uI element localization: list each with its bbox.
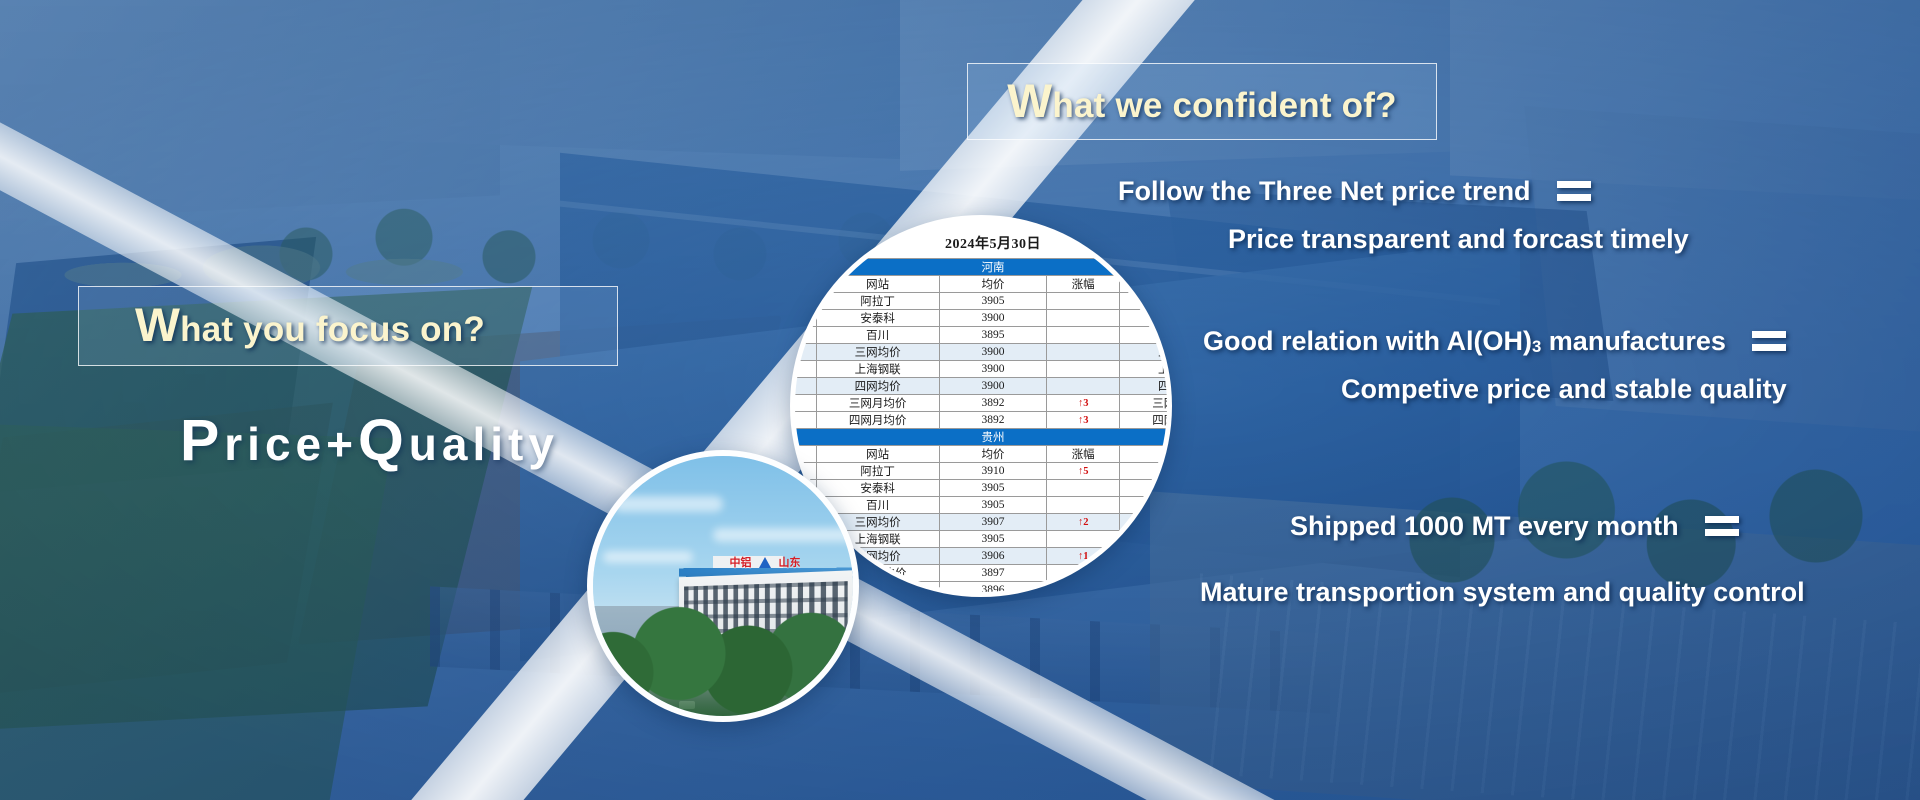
change-up-indicator: ↑5 <box>1078 466 1089 477</box>
table-row: ↑1四网均价3900四网均价 <box>790 378 1172 395</box>
cell-price: 3900 <box>939 378 1047 395</box>
feature-price-trend-title: Follow the Three Net price trend <box>1118 177 1531 205</box>
feature-manufacturer-relation-line1: Good relation with Al(OH)3 manufactures <box>1203 327 1787 355</box>
cell-site-repeat: 百川 <box>1120 497 1172 514</box>
cell-change-2 <box>1047 293 1120 310</box>
cell-price: 3907 <box>939 514 1047 531</box>
heading-confident-capital: W <box>1007 75 1052 128</box>
feature-shipping-volume-title: Shipped 1000 MT every month <box>1290 512 1679 540</box>
heading-confident-rest: hat we confident of? <box>1052 86 1396 125</box>
tagline-capital-p: P <box>180 408 224 473</box>
cell-price: 3905 <box>939 480 1047 497</box>
cell-change-2: ↑1 <box>1047 548 1120 565</box>
cell-site: 安泰科 <box>816 310 939 327</box>
cell-site-repeat: 上海钢联 <box>1120 361 1172 378</box>
cell-site: 四网月均价 <box>816 412 939 429</box>
photo-cloud <box>613 496 723 512</box>
cell-site-repeat: 四网月均价 <box>1120 412 1172 429</box>
region-label: 贵州 <box>790 429 1172 446</box>
column-header: 涨幅 <box>1047 276 1120 293</box>
photo-trees <box>587 604 859 722</box>
cell-change-2 <box>1047 497 1120 514</box>
cell-change-2 <box>1047 378 1120 395</box>
cell-price: 3900 <box>939 344 1047 361</box>
heading-confident-box: What we confident of? <box>967 63 1437 140</box>
cell-site-repeat: 阿拉丁 <box>1120 293 1172 310</box>
photo-sign-right-text: 山东 <box>779 554 801 570</box>
column-header: 网站 <box>816 276 939 293</box>
table-row: 百川3895百川 <box>790 327 1172 344</box>
cell-site-repeat: 上海钢联 <box>1120 531 1172 548</box>
cell-site: 上海钢联 <box>816 361 939 378</box>
cell-change-2: ↑3 <box>1047 565 1120 582</box>
spreadsheet-date-title: 2024年5月30日 <box>790 230 1172 258</box>
change-up-indicator: ↑3 <box>1078 568 1089 579</box>
cell-change-2 <box>1047 327 1120 344</box>
cell-change-2 <box>1047 310 1120 327</box>
cell-site: 四网均价 <box>816 378 939 395</box>
cell-site-repeat: 三网均价 <box>1120 514 1172 531</box>
photo-cloud <box>713 528 859 542</box>
cell-site-repeat: 三网均价 <box>1120 344 1172 361</box>
cell-price: 3905 <box>939 531 1047 548</box>
cell-site: 三网均价 <box>816 344 939 361</box>
cell-price: 3892 <box>939 395 1047 412</box>
tagline-word-price: rice+ <box>224 418 358 470</box>
table-row: ↑2三网均价3900三网均价 <box>790 344 1172 361</box>
table-row: ↑5阿拉丁3905阿拉丁 <box>790 293 1172 310</box>
heading-focus-box: What you focus on? <box>78 286 618 366</box>
photo-cloud <box>603 551 693 563</box>
tagline-price-quality: Price+Quality <box>180 412 559 471</box>
feature-price-trend-line1: Follow the Three Net price trend <box>1118 177 1689 205</box>
column-header: 网站 <box>1120 446 1172 463</box>
table-row: 上海钢联3900上海钢联 <box>790 361 1172 378</box>
column-header: 网站 <box>1120 276 1172 293</box>
cell-price: 3900 <box>939 310 1047 327</box>
heading-confident-text: What we confident of? <box>1007 78 1396 126</box>
cell-site-repeat: 三网月均价 <box>1120 565 1172 582</box>
table-row: ↑3四网月均价3892↑3四网月均价 <box>790 412 1172 429</box>
heading-focus-rest: hat you focus on? <box>180 310 485 349</box>
heading-focus-text: What you focus on? <box>135 302 485 350</box>
feature-formula-post: manufactures <box>1541 326 1726 356</box>
change-up-indicator: ↑2 <box>1078 517 1089 528</box>
cell-change: ↑3 <box>790 395 816 412</box>
cell-price: 3905 <box>939 497 1047 514</box>
table-region-row: 贵州 <box>790 429 1172 446</box>
equals-icon <box>1752 328 1786 354</box>
cell-site-repeat: 四网均价 <box>1120 548 1172 565</box>
equals-icon <box>1557 178 1591 204</box>
table-row: 安泰科3900安泰科 <box>790 310 1172 327</box>
company-building-photo: 中铝 山东 <box>587 450 859 722</box>
cell-change-2 <box>1047 344 1120 361</box>
feature-price-trend: Follow the Three Net price trend Price t… <box>1118 177 1689 254</box>
photo-rooftop-sign: 中铝 山东 <box>685 554 845 570</box>
cell-price: 3895 <box>939 327 1047 344</box>
column-header: 涨幅 <box>1047 446 1120 463</box>
cell-change-2: ↑2 <box>1047 514 1120 531</box>
cell-price: 3910 <box>939 463 1047 480</box>
cell-site-repeat: 阿拉丁 <box>1120 463 1172 480</box>
heading-focus-capital: W <box>135 299 180 352</box>
cell-price: 3897 <box>939 565 1047 582</box>
feature-formula-pre: Good relation with Al(OH) <box>1203 326 1532 356</box>
cell-change <box>790 361 816 378</box>
change-up-indicator: ↑3 <box>1078 398 1089 409</box>
cell-site-repeat: 三网月均价 <box>1120 395 1172 412</box>
photo-sign-left-text: 中铝 <box>730 554 752 570</box>
cell-price: 3905 <box>939 293 1047 310</box>
cell-price: 3892 <box>939 412 1047 429</box>
cell-change-2: ↑3 <box>1047 412 1120 429</box>
feature-shipping-volume: Shipped 1000 MT every month Mature trans… <box>1290 512 1805 607</box>
cell-change-2 <box>1047 480 1120 497</box>
cell-change-2: ↑5 <box>1047 463 1120 480</box>
table-header-row: 网站均价涨幅网站 <box>790 276 1172 293</box>
feature-shipping-volume-line1: Shipped 1000 MT every month <box>1290 512 1805 540</box>
triangle-logo-icon <box>759 557 772 568</box>
column-header: 均价 <box>939 446 1047 463</box>
feature-shipping-volume-line2: Mature transportion system and quality c… <box>1200 578 1805 606</box>
tagline-word-quality: uality <box>409 418 559 470</box>
feature-formula-subscript: 3 <box>1532 337 1541 356</box>
feature-manufacturer-relation: Good relation with Al(OH)3 manufactures … <box>1203 327 1787 404</box>
change-up-indicator: ↑1 <box>1078 551 1089 562</box>
cell-site-repeat: 百川 <box>1120 327 1172 344</box>
cell-change-2 <box>1047 361 1120 378</box>
cell-price: 3906 <box>939 548 1047 565</box>
table-row: ↑3三网月均价3892↑3三网月均价 <box>790 395 1172 412</box>
cell-price: 3900 <box>939 361 1047 378</box>
cell-site-repeat: 安泰科 <box>1120 480 1172 497</box>
cell-site-repeat: 安泰科 <box>1120 310 1172 327</box>
cell-change: ↑1 <box>790 378 816 395</box>
column-header: 均价 <box>939 276 1047 293</box>
region-label: 河南 <box>790 259 1172 276</box>
cell-change: ↑3 <box>790 412 816 429</box>
cell-site: 百川 <box>816 327 939 344</box>
tagline-capital-q: Q <box>358 408 409 473</box>
feature-manufacturer-relation-title: Good relation with Al(OH)3 manufactures <box>1203 327 1726 355</box>
feature-manufacturer-relation-line2: Competive price and stable quality <box>1341 375 1787 403</box>
feature-price-trend-line2: Price transparent and forcast timely <box>1228 225 1689 253</box>
cell-change-2 <box>1047 531 1120 548</box>
cell-change-2: ↑3 <box>1047 395 1120 412</box>
banner-stage: What you focus on? What we confident of?… <box>0 0 1920 800</box>
table-region-row: 河南 <box>790 259 1172 276</box>
cell-site-repeat: 四网均价 <box>1120 378 1172 395</box>
change-up-indicator: ↑3 <box>1078 415 1089 426</box>
cell-site: 阿拉丁 <box>816 293 939 310</box>
equals-icon <box>1705 513 1739 539</box>
cell-site: 三网月均价 <box>816 395 939 412</box>
